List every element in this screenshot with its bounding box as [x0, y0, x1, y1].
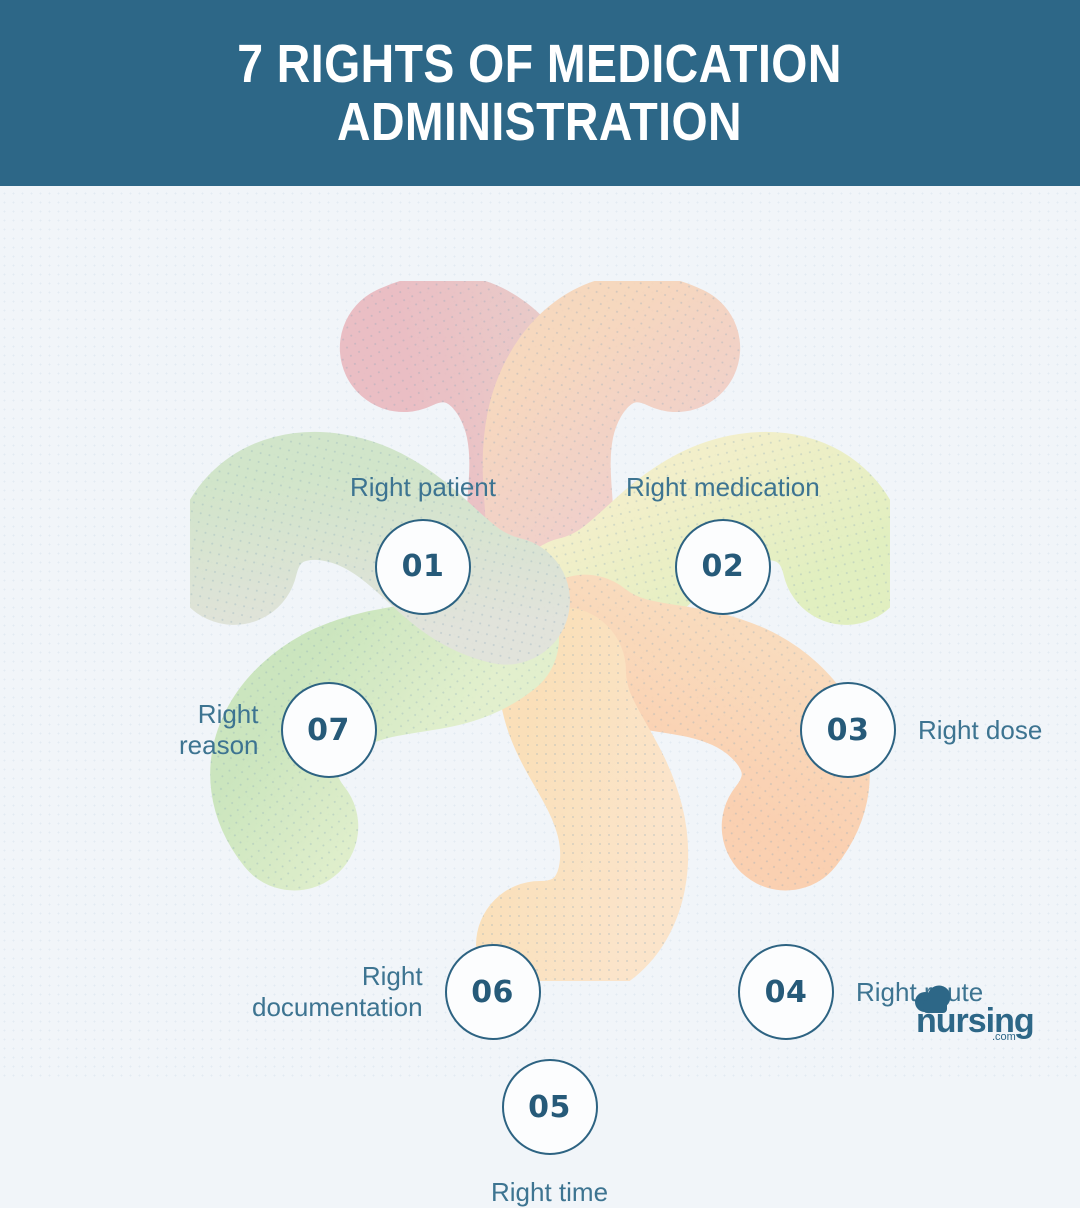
svg-text:nursing: nursing	[916, 1002, 1034, 1040]
step-number-05: 05	[528, 1090, 571, 1125]
petal-ring-svg	[190, 281, 890, 981]
page-title: 7 RIGHTS OF MEDICATION ADMINISTRATION	[203, 35, 876, 152]
svg-text:.com: .com	[992, 1031, 1016, 1043]
petal-05	[540, 671, 624, 945]
step-node-05[interactable]: 05 Right time	[491, 1059, 608, 1208]
step-label-02: Right medication	[626, 472, 820, 503]
step-circle-04[interactable]: 04	[738, 944, 834, 1040]
step-number-02: 02	[701, 549, 744, 584]
step-node-01[interactable]: 01 Right patient	[350, 472, 496, 615]
step-number-06: 06	[471, 975, 514, 1010]
step-node-02[interactable]: 02 Right medication	[626, 472, 820, 615]
step-circle-07[interactable]: 07	[281, 682, 377, 778]
step-circle-05[interactable]: 05	[502, 1059, 598, 1155]
step-number-04: 04	[765, 975, 808, 1010]
step-label-01: Right patient	[350, 472, 496, 503]
step-circle-06[interactable]: 06	[445, 944, 541, 1040]
step-label-06: Right documentation	[252, 961, 423, 1022]
step-circle-02[interactable]: 02	[675, 519, 771, 615]
step-circle-03[interactable]: 03	[800, 682, 896, 778]
petal-ring	[190, 281, 890, 981]
step-number-01: 01	[402, 549, 445, 584]
step-label-07: Right reason	[179, 699, 259, 760]
step-label-05: Right time	[491, 1177, 608, 1208]
step-circle-01[interactable]: 01	[375, 519, 471, 615]
step-label-03: Right dose	[918, 715, 1042, 746]
header-banner: 7 RIGHTS OF MEDICATION ADMINISTRATION	[0, 0, 1080, 186]
step-number-03: 03	[827, 713, 870, 748]
nursing-logo[interactable]: nursing .com	[908, 982, 1036, 1044]
step-number-07: 07	[307, 713, 350, 748]
step-node-03[interactable]: 03 Right dose	[800, 682, 1042, 778]
step-node-07[interactable]: 07 Right reason	[179, 682, 377, 778]
infographic-stage: 01 Right patient 02 Right medication 03 …	[0, 186, 1080, 1080]
step-node-06[interactable]: 06 Right documentation	[252, 944, 541, 1040]
nursing-logo-icon: nursing .com	[908, 982, 1036, 1044]
